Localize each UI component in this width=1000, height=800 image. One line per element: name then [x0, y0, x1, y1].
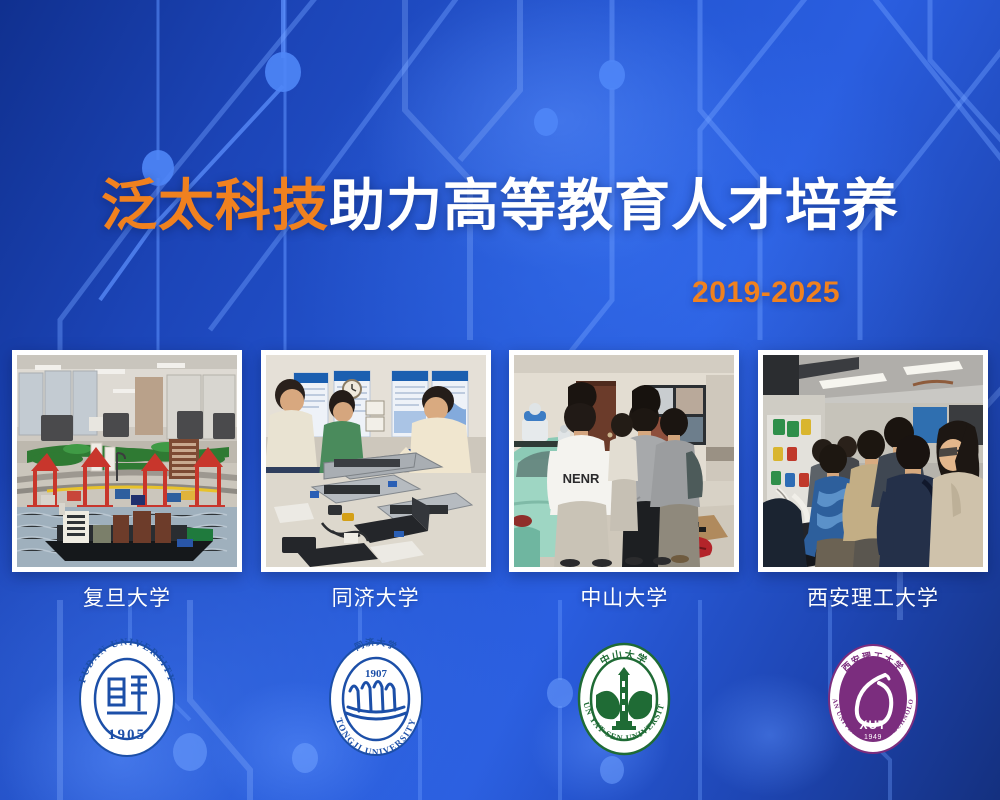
- fudan-university-logo: FUDAN UNIVERSITY 1905: [71, 633, 183, 763]
- logo-cell-xut[interactable]: 西安理工大学 XI'AN UNIVERSITY OF TECHNOLOGY XU…: [758, 628, 988, 768]
- logo-cell-tongji[interactable]: 同济大学 TONGJI UNIVERSITY 1907: [261, 628, 491, 768]
- photo-automation-equipment-visit: [763, 355, 983, 567]
- photo-autonomous-vehicle-lab: NENR: [514, 355, 734, 567]
- poster-canvas: 泛太科技助力高等教育人才培养 2019-2025: [0, 0, 1000, 800]
- caption-row: 复旦大学 同济大学 中山大学 西安理工大学: [0, 582, 1000, 616]
- logo-cell-sysu[interactable]: 中山大学 SUN YAT-SEN UNIVERSITY: [509, 628, 739, 768]
- photo-card-tongji[interactable]: [261, 350, 491, 572]
- photo-port-city-scale-model: [17, 355, 237, 567]
- svg-text:1907: 1907: [365, 668, 388, 680]
- photo-card-xut[interactable]: [758, 350, 988, 572]
- logo-row: FUDAN UNIVERSITY 1905: [0, 628, 1000, 768]
- photo-electronics-lab-bench: [266, 355, 486, 567]
- svg-text:1905: 1905: [108, 727, 146, 743]
- sun-yat-sen-university-logo: 中山大学 SUN YAT-SEN UNIVERSITY: [568, 633, 680, 763]
- caption-tongji: 同济大学: [261, 582, 491, 616]
- caption-sysu: 中山大学: [509, 582, 739, 616]
- year-range-subtitle: 2019-2025: [692, 276, 840, 310]
- logo-cell-fudan[interactable]: FUDAN UNIVERSITY 1905: [12, 628, 242, 768]
- caption-fudan: 复旦大学: [12, 582, 242, 616]
- tongji-university-logo: 同济大学 TONGJI UNIVERSITY 1907: [320, 633, 432, 763]
- photo-card-sysu[interactable]: NENR: [509, 350, 739, 572]
- shirt-text: NENR: [563, 471, 600, 486]
- photo-card-fudan[interactable]: [12, 350, 242, 572]
- photo-gallery: NENR: [0, 350, 1000, 572]
- svg-text:1949: 1949: [864, 734, 882, 741]
- xian-university-of-technology-logo: 西安理工大学 XI'AN UNIVERSITY OF TECHNOLOGY XU…: [817, 633, 929, 763]
- caption-xut: 西安理工大学: [758, 582, 988, 616]
- svg-text:XUT: XUT: [859, 718, 886, 732]
